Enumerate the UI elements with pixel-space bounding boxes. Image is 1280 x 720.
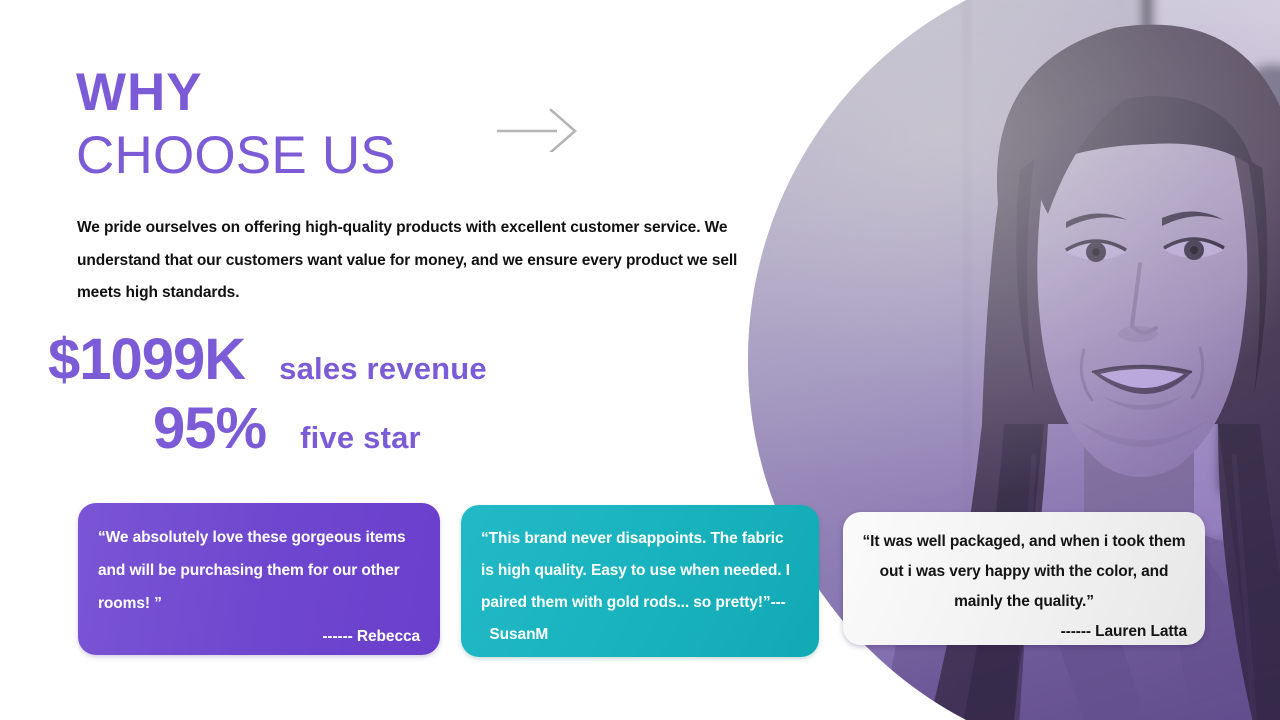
testimonial-card-lauren-latta: “It was well packaged, and when i took t… (843, 512, 1205, 645)
stat-row-five-star: 95% five star (153, 399, 658, 460)
testimonial-quote-text: “This brand never disappoints. The fabri… (481, 530, 790, 611)
testimonial-author: SusanM (489, 626, 548, 643)
testimonial-author-separator: --- (771, 594, 786, 611)
stat-row-revenue: $1099K sales revenue (48, 330, 658, 391)
intro-paragraph: We pride ourselves on offering high-qual… (77, 212, 757, 310)
stat-label-five-star: five star (300, 420, 421, 456)
testimonial-quote: “It was well packaged, and when i took t… (861, 527, 1187, 617)
testimonial-quote: “We absolutely love these gorgeous items… (98, 521, 420, 620)
stats-group: $1099K sales revenue 95% five star (48, 330, 658, 460)
stat-value-five-star: 95% (153, 399, 266, 460)
testimonial-author: ------ Lauren Latta (861, 617, 1187, 647)
arrow-right-icon (495, 108, 587, 152)
slide-root: WHY CHOOSE US We pride ourselves on offe… (0, 0, 1280, 720)
stat-label-revenue: sales revenue (279, 351, 487, 387)
testimonial-quote: “This brand never disappoints. The fabri… (481, 523, 799, 651)
stat-value-revenue: $1099K (48, 330, 245, 391)
testimonial-author: ------ Rebecca (98, 620, 420, 653)
title-line-choose: CHOOSE US (76, 129, 396, 182)
testimonial-card-susanm: “This brand never disappoints. The fabri… (461, 505, 819, 657)
testimonial-card-rebecca: “We absolutely love these gorgeous items… (78, 503, 440, 655)
title-line-why: WHY (76, 66, 396, 119)
page-title: WHY CHOOSE US (76, 66, 396, 182)
